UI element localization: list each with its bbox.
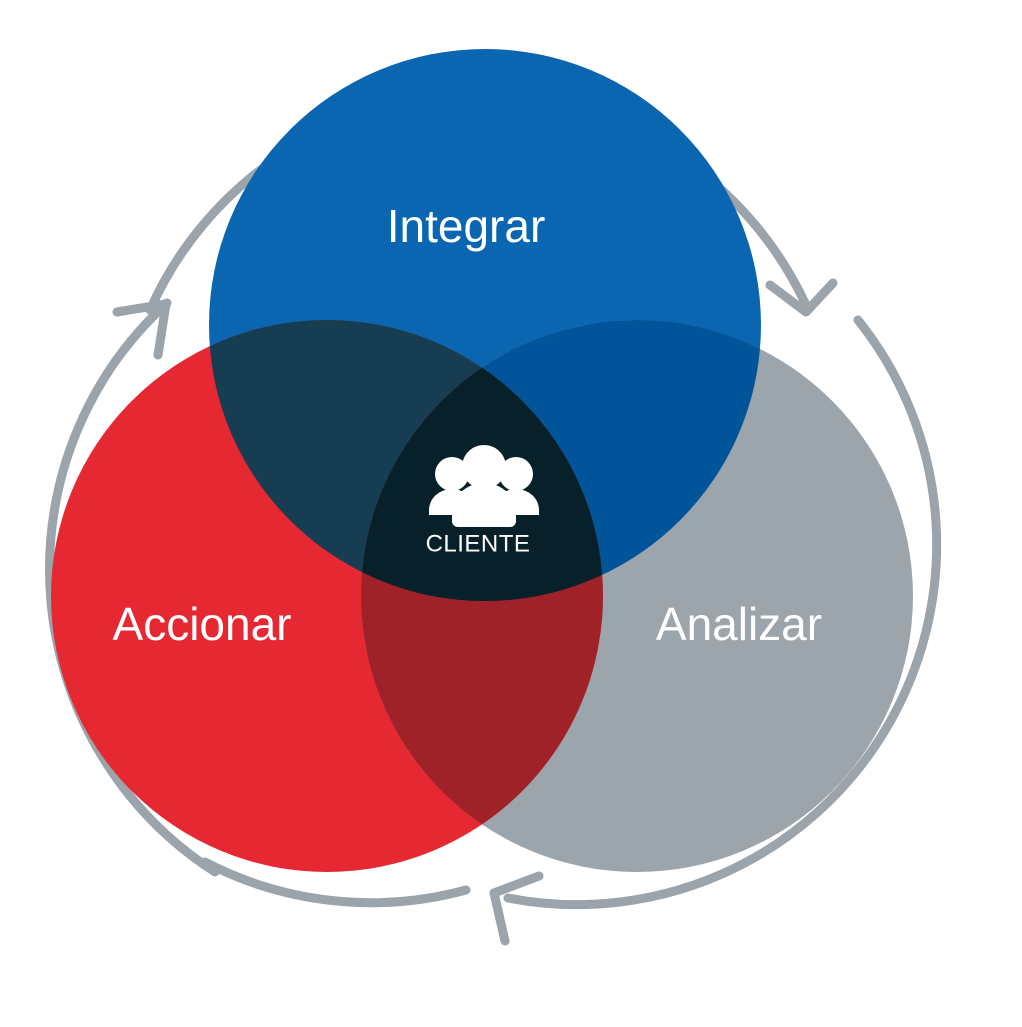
center-cliente-group[interactable]: CLIENTE	[426, 445, 539, 557]
center-label-cliente: CLIENTE	[426, 530, 531, 557]
venn-diagram-container: Integrar Accionar Analizar CLIENTE	[0, 0, 1022, 1027]
circle-label-accionar: Accionar	[113, 598, 292, 650]
circle-label-analizar: Analizar	[656, 598, 822, 650]
circle-label-integrar: Integrar	[387, 200, 546, 252]
venn-diagram-svg: Integrar Accionar Analizar CLIENTE	[0, 0, 1022, 1027]
arrow-bottom-arrowhead	[494, 876, 539, 941]
